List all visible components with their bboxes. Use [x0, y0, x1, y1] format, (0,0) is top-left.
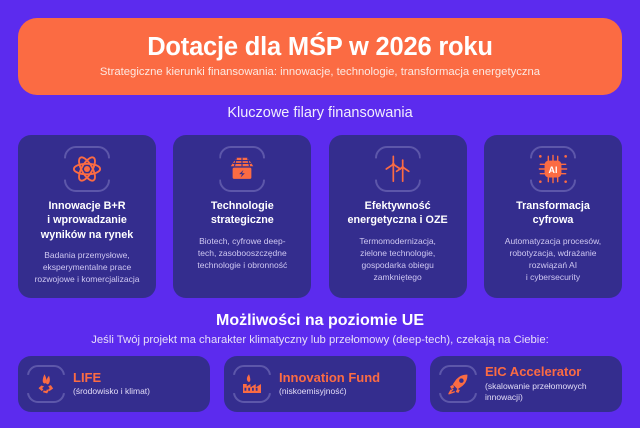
ai-chip-icon: AI: [530, 146, 576, 192]
pillar-description: Badania przemysłowe,eksperymentalne prac…: [35, 249, 140, 286]
pillar-card-transformacja[interactable]: AI Transformacjacyfrowa Automatyzacja pr…: [484, 135, 622, 298]
eu-card-text: LIFE (środowisko i klimat): [73, 371, 150, 398]
eu-card-innovation-fund[interactable]: Innovation Fund (niskoemisyjność): [224, 356, 416, 412]
eu-section-subheading: Jeśli Twój projekt ma charakter klimatyc…: [0, 334, 640, 346]
eu-card-text: Innovation Fund (niskoemisyjność): [279, 371, 380, 398]
eu-card-life[interactable]: LIFE (środowisko i klimat): [18, 356, 210, 412]
eu-card-subtitle: (środowisko i klimat): [73, 386, 150, 397]
eu-card-subtitle: (skalowanie przełomowych innowacji): [485, 381, 613, 403]
eu-card-title: Innovation Fund: [279, 371, 380, 386]
eu-card-title: EIC Accelerator: [485, 365, 613, 380]
pillar-description: Automatyzacja procesów,robotyzacja, wdra…: [505, 235, 601, 284]
page-title: Dotacje dla MŚP w 2026 roku: [147, 34, 493, 61]
pillar-title: Efektywnośćenergetyczna i OZE: [348, 199, 448, 228]
svg-text:AI: AI: [549, 165, 558, 175]
pillar-description: Biotech, cyfrowe deep-tech, zasobooszczę…: [197, 235, 287, 272]
pillars-section-heading: Kluczowe filary finansowania: [0, 105, 640, 121]
pillar-card-innowacje[interactable]: Innowacje B+Ri wprowadzaniewyników na ry…: [18, 135, 156, 298]
wind-turbine-icon: [375, 146, 421, 192]
eu-section-heading: Możliwości na poziomie UE: [0, 312, 640, 330]
pillar-title: Technologiestrategiczne: [211, 199, 274, 228]
pillar-card-technologie[interactable]: Technologiestrategiczne Biotech, cyfrowe…: [173, 135, 311, 298]
recycle-leaf-icon: [27, 365, 65, 403]
infographic-poster: Dotacje dla MŚP w 2026 roku Strategiczne…: [0, 0, 640, 428]
header-banner: Dotacje dla MŚP w 2026 roku Strategiczne…: [18, 18, 622, 95]
atom-icon: [64, 146, 110, 192]
page-subtitle: Strategiczne kierunki finansowania: inno…: [100, 66, 540, 78]
eu-card-title: LIFE: [73, 371, 150, 386]
eu-card-eic-accelerator[interactable]: EIC Accelerator (skalowanie przełomowych…: [430, 356, 622, 412]
eu-card-subtitle: (niskoemisyjność): [279, 386, 380, 397]
solar-panel-icon: [219, 146, 265, 192]
pillar-title: Transformacjacyfrowa: [516, 199, 590, 228]
rocket-icon: [439, 365, 477, 403]
eu-card-row: LIFE (środowisko i klimat): [18, 356, 622, 412]
pillar-card-efektywnosc[interactable]: Efektywnośćenergetyczna i OZE Termomoder…: [329, 135, 467, 298]
pillars-card-row: Innowacje B+Ri wprowadzaniewyników na ry…: [18, 135, 622, 298]
eu-card-text: EIC Accelerator (skalowanie przełomowych…: [485, 365, 613, 403]
pillar-description: Termomodernizacja,zielone technologie,go…: [359, 235, 436, 284]
pillar-title: Innowacje B+Ri wprowadzaniewyników na ry…: [41, 199, 133, 242]
factory-icon: [233, 365, 271, 403]
